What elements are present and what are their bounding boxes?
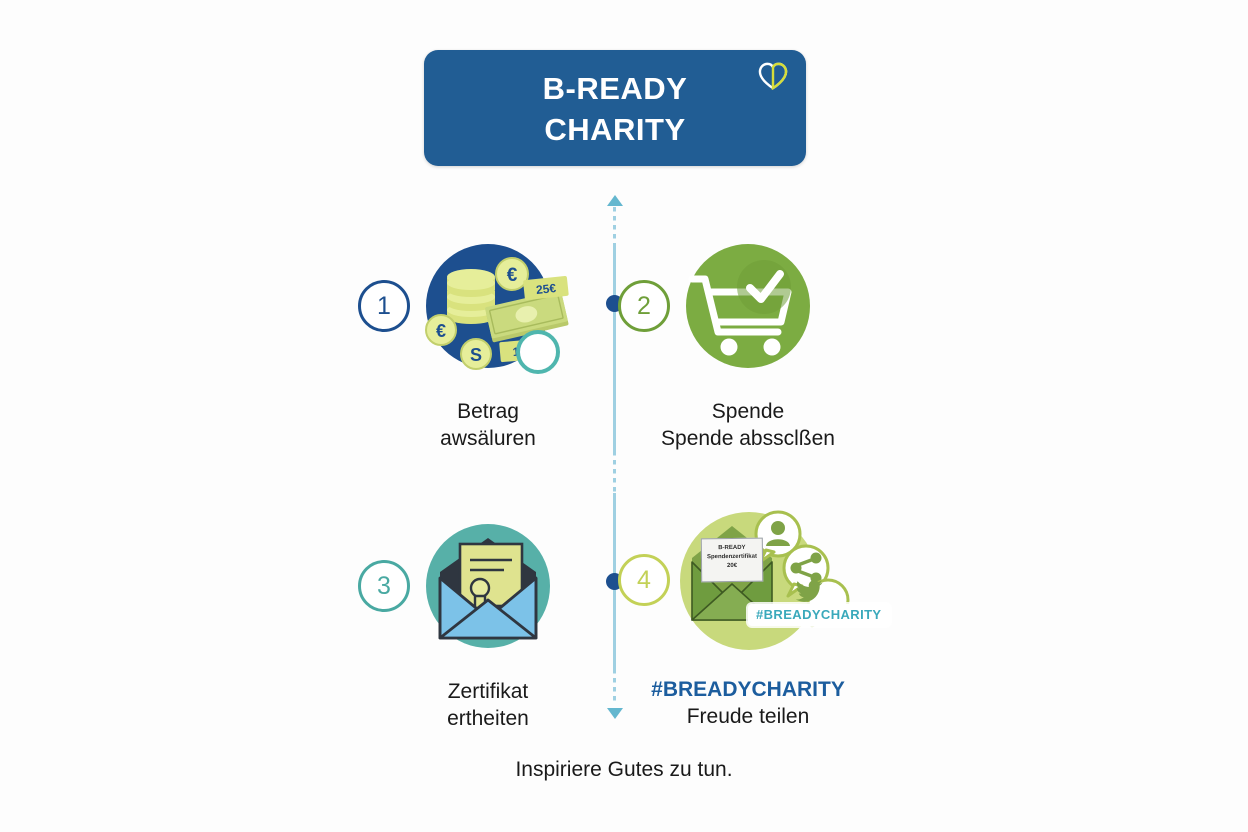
svg-text:€: € bbox=[507, 265, 518, 286]
certificate-card: B-READY Spendenzertifikat 20€ bbox=[701, 538, 763, 583]
header-banner: B-READY CHARITY bbox=[424, 50, 806, 166]
step-2-number-badge: 2 bbox=[618, 280, 670, 332]
step-4-hashtag-label: #BREADYCHARITY bbox=[588, 676, 908, 703]
heart-icon bbox=[758, 62, 788, 90]
svg-text:S: S bbox=[470, 345, 482, 365]
step-4-graphic: B-READY Spendenzertifikat 20€ #BREADYCHA… bbox=[588, 502, 908, 662]
step-2-label: Spende Spende abssclßen bbox=[588, 398, 908, 452]
step-3-number-badge: 3 bbox=[358, 560, 410, 612]
infographic-canvas: B-READY CHARITY bbox=[0, 0, 1248, 832]
step-2[interactable]: 2 Spende Spende abssclßen bbox=[588, 232, 908, 452]
step-1-accent-ring bbox=[516, 330, 560, 374]
footer-tagline: Inspiriere Gutes zu tun. bbox=[0, 758, 1248, 782]
step-4-number-badge: 4 bbox=[618, 554, 670, 606]
hashtag-pill: #BREADYCHARITY bbox=[748, 604, 890, 626]
timeline-dotted-middle bbox=[613, 451, 616, 493]
step-1-number-badge: 1 bbox=[358, 280, 410, 332]
timeline-arrow-up bbox=[607, 195, 623, 206]
step-2-graphic: 2 bbox=[588, 232, 908, 392]
svg-text:25€: 25€ bbox=[535, 281, 557, 297]
person-icon bbox=[771, 521, 785, 535]
step-4-sub-label: Freude teilen bbox=[687, 705, 810, 728]
svg-text:€: € bbox=[436, 321, 446, 341]
step-4-label: #BREADYCHARITYFreude teilen bbox=[588, 676, 908, 730]
page-title: B-READY CHARITY bbox=[424, 68, 806, 150]
step-4[interactable]: B-READY Spendenzertifikat 20€ #BREADYCHA… bbox=[588, 502, 908, 730]
